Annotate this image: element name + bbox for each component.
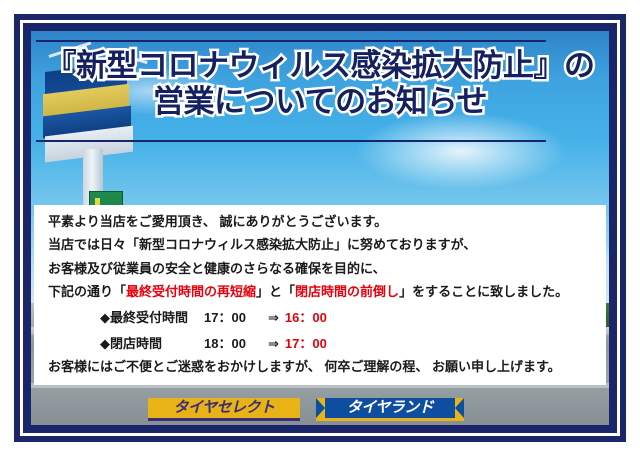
schedule-new-time-closing: 17：00 [285,336,327,351]
schedule-label-reception: ◆最終受付時間 [100,307,204,326]
title-rule-top [36,40,546,42]
notice-line-3: お客様及び従業員の安全と健康のさらなる確保を目的に、 [48,261,592,277]
title-rule-bottom [36,140,546,142]
logo-tire-select: タイヤセレクト [148,398,300,421]
page-title-line-1: 『新型コロナウィルス感染拡大防止』の [31,48,609,84]
bullet-diamond-icon: ◆ [100,310,110,325]
logo-tire-select-text: タイヤセレクト [173,399,274,416]
notice-panel: 平素より当店をご愛用頂き、 誠にありがとうございます。 当店では日々「新型コロナ… [34,205,606,385]
arrow-right-icon-closing: ⇒ [262,336,285,352]
schedule-label-reception-text: 最終受付時間 [110,310,188,325]
notice-line-4-prefix: 下記の通り「 [48,284,126,299]
bullet-diamond-icon-2: ◆ [100,336,110,351]
arrow-right-icon-reception: ⇒ [262,310,285,326]
notice-greeting: 平素より当店をご愛用頂き、 誠にありがとうございます。 [48,214,592,230]
notice-line-2-text: 当店では日々「新型コロナウィルス感染拡大防止」に努めておりますが、 [48,237,476,252]
notice-closing-apology: お客様にはご不便とご迷惑をおかけしますが、 何卒ご理解の程、 お願い申し上げます… [48,359,592,375]
logo-tire-land: タイヤランド [316,398,464,421]
schedule-old-time-reception: 17：00 [204,307,262,326]
notice-highlight-reception: 最終受付時間の再短縮 [126,284,256,299]
logo-tire-land-text: タイヤランド [347,399,434,416]
schedule-old-time-closing: 18：00 [204,333,262,352]
schedule-new-time-reception: 16：00 [285,310,327,325]
notice-line-4: 下記の通り「最終受付時間の再短縮」と「閉店時間の前倒し」をすることに致しました。 [48,284,592,300]
notice-line-4-middle: 」と「 [256,284,295,299]
schedule-label-closing: ◆閉店時間 [100,333,204,352]
schedule-row-closing: ◆閉店時間18：00⇒17：00 [48,333,592,352]
notice-highlight-closing: 閉店時間の前倒し [295,284,399,299]
notice-line-2: 当店では日々「新型コロナウィルス感染拡大防止」に努めておりますが、 [48,237,592,253]
schedule-label-closing-text: 閉店時間 [110,336,162,351]
page-title-line-2: 営業についてのお知らせ [31,84,609,120]
schedule-row-reception: ◆最終受付時間17：00⇒16：00 [48,307,592,326]
notice-line-4-suffix: 」をすることに致しました。 [399,284,568,299]
page-title: 『新型コロナウィルス感染拡大防止』の 営業についてのお知らせ [31,48,609,120]
